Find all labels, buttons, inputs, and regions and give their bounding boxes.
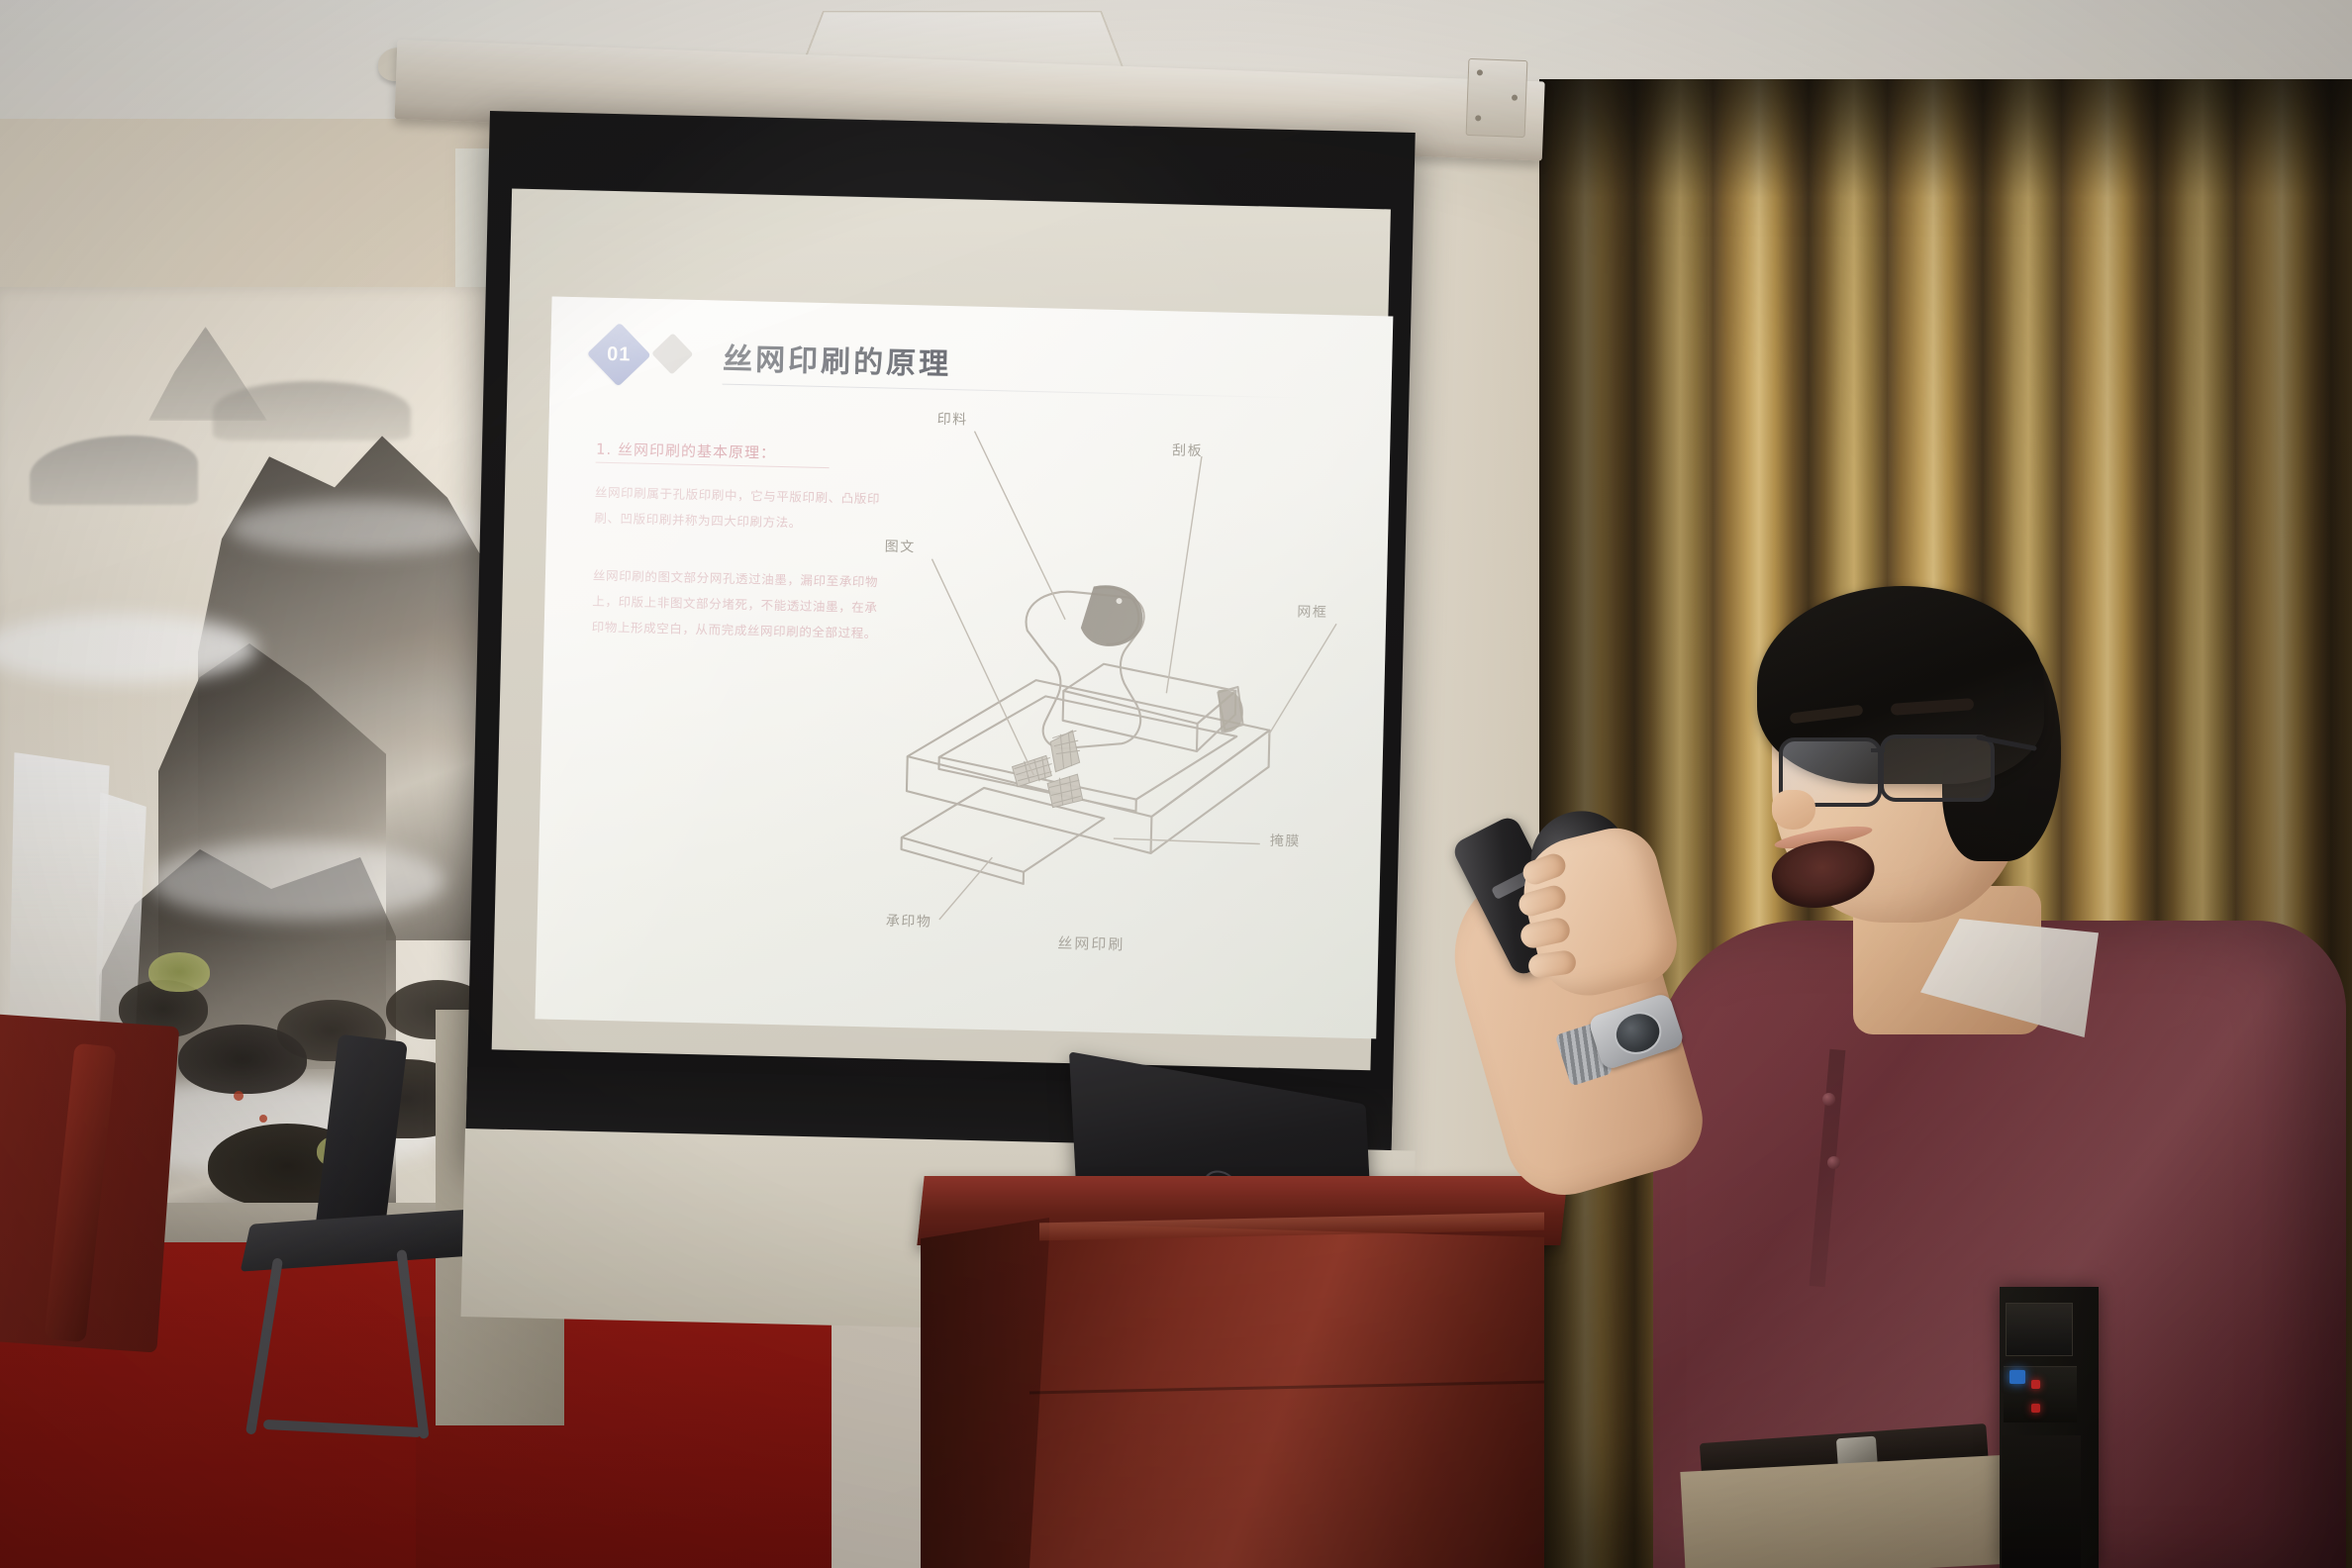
diagram-label-artwork: 图文: [885, 537, 916, 557]
podium-front-panel: [1029, 1224, 1544, 1568]
presentation-photo-scene: 01 丝网印刷的原理 1. 丝网印刷的基本原理： 丝网印刷属于孔版印刷中，它与平…: [0, 0, 2352, 1568]
section-heading-underline: [596, 462, 830, 469]
screen-surface: 01 丝网印刷的原理 1. 丝网印刷的基本原理： 丝网印刷属于孔版印刷中，它与平…: [492, 189, 1391, 1071]
shirt-button: [1827, 1156, 1840, 1169]
slide-section-heading: 1. 丝网印刷的基本原理：: [596, 439, 777, 463]
diagram-caption: 丝网印刷: [1057, 932, 1125, 955]
diagram-label-substrate: 承印物: [886, 911, 932, 931]
rack-lower-unit: [2002, 1435, 2081, 1568]
diagram-drawing: [862, 389, 1381, 995]
slide-paragraph: 丝网印刷属于孔版印刷中，它与平版印刷、凸版印刷、凹版印刷并称为四大印刷方法。: [594, 480, 882, 539]
glasses-lens-right: [1880, 735, 1995, 802]
screen-roller-end-cap: [1466, 58, 1528, 138]
rack-status-led-blue: [2009, 1370, 2025, 1384]
screen-printing-diagram: 印料 刮板 图文 网框 掩膜 承印物 丝网印刷: [862, 389, 1381, 995]
slide-title: 丝网印刷的原理: [723, 335, 952, 383]
slide-paragraph: 丝网印刷的图文部分网孔透过油墨，漏印至承印物上，印版上非图文部分堵死，不能透过油…: [591, 563, 880, 647]
slide-content: 01 丝网印刷的原理 1. 丝网印刷的基本原理： 丝网印刷属于孔版印刷中，它与平…: [535, 297, 1393, 1039]
speaker-trousers: [1680, 1454, 2021, 1568]
slide-accent-diamond-icon: [651, 333, 693, 374]
rack-status-led-red: [2031, 1380, 2040, 1389]
projector-screen: 01 丝网印刷的原理 1. 丝网印刷的基本原理： 丝网印刷属于孔版印刷中，它与平…: [465, 111, 1416, 1182]
slide-badge-number: 01: [596, 332, 642, 378]
watch-face: [1609, 1006, 1667, 1060]
speaker-nose: [1772, 790, 1815, 830]
diagram-label-ink: 印料: [937, 409, 968, 430]
shirt-button: [1822, 1093, 1835, 1106]
curtain-top-shade: [1539, 79, 2352, 198]
glasses-bridge: [1871, 748, 1885, 752]
diagram-label-frame: 网框: [1297, 601, 1327, 622]
diagram-label-mask: 掩膜: [1270, 831, 1301, 851]
diagram-label-squeegee: 刮板: [1172, 440, 1203, 460]
rack-open-slot: [2006, 1303, 2073, 1356]
rack-status-led-red: [2031, 1404, 2040, 1413]
